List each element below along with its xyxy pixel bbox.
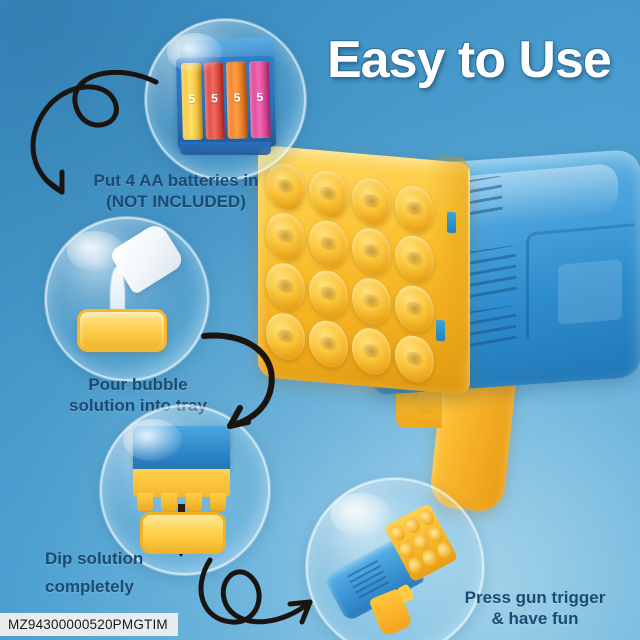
- nozzle-tooth: [161, 493, 177, 510]
- battery-label: 5: [249, 90, 269, 105]
- step-bubble-1: 5 5 5 5: [144, 18, 307, 181]
- mini-wand: [402, 514, 421, 535]
- nozzle-tooth: [186, 493, 202, 510]
- gun-head-rim: [426, 154, 468, 368]
- bubble-wand: [266, 260, 305, 313]
- battery-label: 5: [227, 91, 247, 106]
- bubble-wand: [352, 225, 391, 278]
- battery-red: 5: [203, 62, 225, 140]
- arrow-step1-icon: [18, 64, 168, 204]
- battery-tray: 5 5 5 5: [175, 56, 275, 150]
- mini-wand: [420, 548, 439, 569]
- step-bubble-2: [44, 216, 210, 382]
- step-4-caption: Press gun trigger & have fun: [450, 588, 620, 629]
- bubble-wand: [352, 175, 391, 228]
- step-1-illustration: 5 5 5 5: [144, 18, 307, 181]
- battery-pink: 5: [249, 61, 271, 139]
- battery-label: 5: [204, 92, 224, 107]
- bubble-wand: [352, 275, 391, 328]
- watermark-code: MZ94300000520PMGTIM: [0, 613, 178, 636]
- bubble-wand: [352, 325, 391, 378]
- battery-orange: 5: [226, 62, 248, 140]
- page-title: Easy to Use: [327, 34, 611, 86]
- gun-head-clip-upper: [447, 212, 456, 234]
- bubble-wand: [309, 268, 348, 321]
- solution-tray: [77, 309, 167, 352]
- battery-yellow: 5: [181, 63, 203, 141]
- nozzle-tooth: [210, 493, 226, 510]
- arrow-step3-icon: [192, 552, 332, 640]
- nozzle-tooth: [137, 493, 153, 510]
- gun-side-panel-inset: [558, 259, 622, 325]
- battery-label: 5: [181, 92, 201, 107]
- product-infographic: Easy to Use 5 5 5 5 Put 4 AA batteries i…: [0, 0, 640, 640]
- step-2-illustration: [44, 216, 210, 382]
- gun-head-clip-lower: [436, 320, 445, 342]
- bubble-wand: [266, 210, 305, 263]
- arrow-step2-icon: [198, 330, 318, 440]
- mini-wand: [411, 531, 430, 552]
- bubble-wand: [309, 218, 348, 271]
- bubble-wand: [309, 168, 348, 221]
- battery-compartment-base: [180, 142, 271, 155]
